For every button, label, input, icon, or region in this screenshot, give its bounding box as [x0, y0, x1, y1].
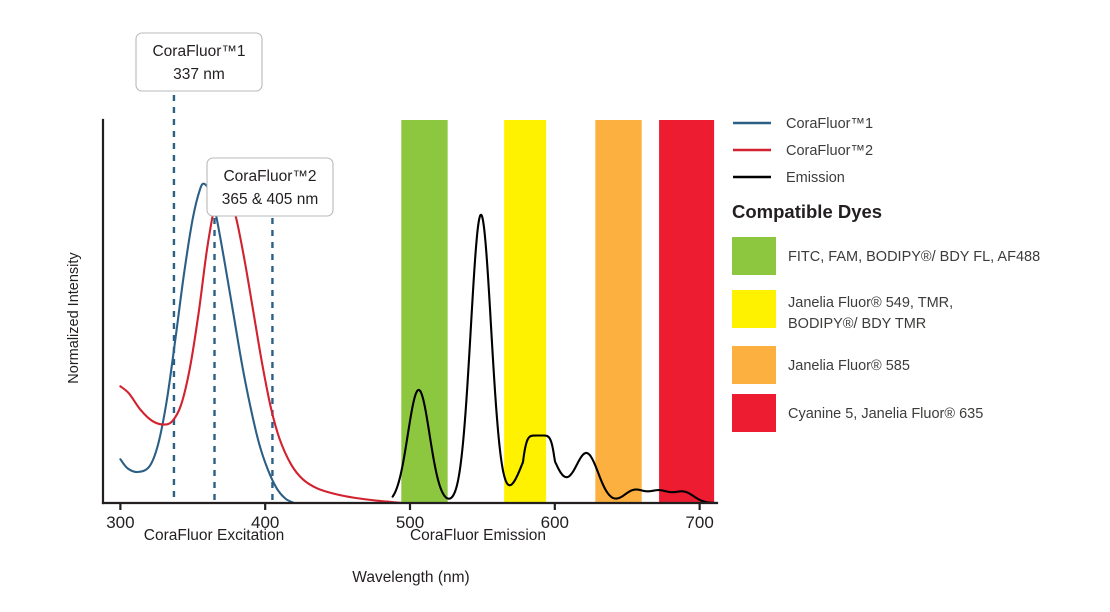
- callout-corafluor-2: CoraFluor™2 365 & 405 nm: [207, 158, 333, 216]
- legend-label-2: Emission: [786, 170, 845, 186]
- callout-corafluor-1: CoraFluor™1 337 nm: [136, 33, 262, 91]
- dye-label-2-line1: Janelia Fluor® 585: [788, 358, 910, 374]
- callout-1-line2: 337 nm: [173, 66, 225, 83]
- x-axis-title: Wavelength (nm): [352, 569, 469, 586]
- compatible-dyes-list: FITC, FAM, BODIPY®/ BDY FL, AF488Janelia…: [732, 237, 1040, 432]
- dye-swatch-2: [732, 346, 776, 384]
- y-axis-title: Normalized Intensity: [66, 252, 82, 384]
- legend-label-1: CoraFluor™2: [786, 143, 873, 159]
- orange-band: [595, 120, 641, 503]
- dye-label-3-line1: Cyanine 5, Janelia Fluor® 635: [788, 406, 983, 422]
- dye-swatch-0: [732, 237, 776, 275]
- curve-corafluor-1: [120, 184, 294, 503]
- series-legend: CoraFluor™1CoraFluor™2Emission: [733, 116, 873, 186]
- callout-2-line1: CoraFluor™2: [223, 168, 316, 185]
- dye-label-0-line1: FITC, FAM, BODIPY®/ BDY FL, AF488: [788, 249, 1040, 265]
- dye-swatch-3: [732, 394, 776, 432]
- curve-corafluor-2: [120, 187, 402, 503]
- x-tick-label-300: 300: [106, 513, 134, 532]
- dye-label-1-line2: BODIPY®/ BDY TMR: [788, 316, 926, 332]
- legend-label-0: CoraFluor™1: [786, 116, 873, 132]
- green-band: [401, 120, 447, 503]
- x-tick-label-700: 700: [685, 513, 713, 532]
- spectra-chart-figure: 300400500600700 CoraFluor Excitation Cor…: [0, 0, 1110, 612]
- compatible-dyes-heading: Compatible Dyes: [732, 201, 882, 222]
- dye-label-1-line1: Janelia Fluor® 549, TMR,: [788, 295, 953, 311]
- emission-bands-group: [401, 120, 714, 503]
- excitation-region-label: CoraFluor Excitation: [144, 527, 284, 544]
- red-band: [659, 120, 714, 503]
- dye-swatch-1: [732, 290, 776, 328]
- callout-1-line1: CoraFluor™1: [152, 43, 245, 60]
- emission-region-label: CoraFluor Emission: [410, 527, 546, 544]
- callout-2-line2: 365 & 405 nm: [222, 191, 319, 208]
